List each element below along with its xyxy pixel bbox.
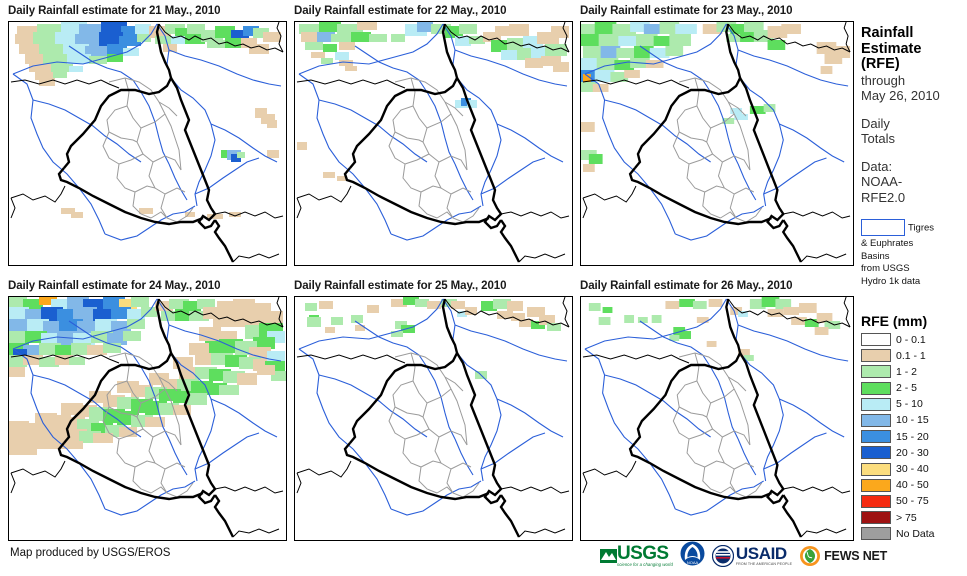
rfe-legend-row: 0.1 - 1 bbox=[861, 348, 967, 363]
rfe-legend-row: 40 - 50 bbox=[861, 478, 967, 493]
rfe-legend-swatch bbox=[861, 349, 891, 362]
rfe-legend-swatch bbox=[861, 527, 891, 540]
map-panel-4[interactable]: Daily Rainfall estimate for 24 May., 201… bbox=[6, 279, 220, 295]
data-source-line1: Data: bbox=[861, 159, 967, 175]
rfe-legend-row: 20 - 30 bbox=[861, 445, 967, 460]
rfe-legend-label: > 75 bbox=[896, 512, 917, 524]
panel-title-1: Daily Rainfall estimate for 21 May., 201… bbox=[6, 4, 220, 20]
legend-title-line1: Rainfall bbox=[861, 26, 967, 42]
rfe-legend-label: 20 - 30 bbox=[896, 447, 929, 459]
panel-title-6: Daily Rainfall estimate for 26 May., 201… bbox=[578, 279, 792, 295]
rfe-legend-row: > 75 bbox=[861, 510, 967, 525]
legend-totals: Daily Totals bbox=[861, 116, 967, 147]
rfe-legend-label: 50 - 75 bbox=[896, 495, 929, 507]
map-canvas-2[interactable] bbox=[294, 21, 573, 266]
rainfall-map-4 bbox=[9, 297, 286, 540]
panel-title-3: Daily Rainfall estimate for 23 May., 201… bbox=[578, 4, 792, 20]
noaa-logo[interactable]: NOAA bbox=[680, 541, 705, 571]
rfe-legend-swatch bbox=[861, 414, 891, 427]
legend-sidebar: Rainfall Estimate (RFE) through May 26, … bbox=[861, 0, 967, 545]
rfe-legend-label: 30 - 40 bbox=[896, 463, 929, 475]
rainfall-map-5 bbox=[295, 297, 572, 540]
rfe-legend-label: 15 - 20 bbox=[896, 431, 929, 443]
basin-swatch bbox=[861, 219, 905, 236]
map-panel-grid: Daily Rainfall estimate for 21 May., 201… bbox=[0, 0, 855, 545]
panel-title-5: Daily Rainfall estimate for 25 May., 201… bbox=[292, 279, 506, 295]
rfe-legend-swatch bbox=[861, 463, 891, 476]
rfe-legend-row: 30 - 40 bbox=[861, 462, 967, 477]
rfe-legend-swatch bbox=[861, 495, 891, 508]
basin-line5: Hydro 1k data bbox=[861, 276, 967, 288]
map-panel-1[interactable]: Daily Rainfall estimate for 21 May., 201… bbox=[6, 4, 220, 20]
rfe-legend-label: No Data bbox=[896, 528, 935, 540]
rfe-legend-swatch bbox=[861, 365, 891, 378]
rainfall-map-1 bbox=[9, 22, 286, 265]
rfe-legend-label: 2 - 5 bbox=[896, 382, 917, 394]
fews-net-wordmark: FEWS NET bbox=[824, 549, 887, 563]
map-canvas-5[interactable] bbox=[294, 296, 573, 541]
rfe-legend-label: 1 - 2 bbox=[896, 366, 917, 378]
svg-text:NOAA: NOAA bbox=[687, 560, 699, 565]
rfe-legend-swatch bbox=[861, 382, 891, 395]
noaa-seal-icon: NOAA bbox=[680, 541, 705, 566]
rfe-legend-row: 50 - 75 bbox=[861, 494, 967, 509]
legend-through: through bbox=[861, 73, 967, 89]
rfe-legend-row: 15 - 20 bbox=[861, 429, 967, 444]
rfe-legend-swatch bbox=[861, 511, 891, 524]
map-credit: Map produced by USGS/EROS bbox=[10, 547, 170, 559]
rainfall-map-6 bbox=[581, 297, 853, 540]
rfe-legend-swatch bbox=[861, 398, 891, 411]
rfe-legend-swatch bbox=[861, 333, 891, 346]
legend-title: Rainfall Estimate (RFE) through May 26, … bbox=[861, 26, 967, 104]
data-source-line2: NOAA- bbox=[861, 174, 967, 190]
rfe-legend-label: 0 - 0.1 bbox=[896, 334, 926, 346]
usgs-mark-icon bbox=[600, 548, 617, 565]
map-canvas-4[interactable] bbox=[8, 296, 287, 541]
map-canvas-6[interactable] bbox=[580, 296, 854, 541]
basin-legend: Tigres & Euphrates Basins from USGS Hydr… bbox=[861, 219, 967, 287]
rfe-legend-row: No Data bbox=[861, 526, 967, 541]
rfe-legend-swatch bbox=[861, 479, 891, 492]
basin-line3: Basins bbox=[861, 251, 967, 263]
legend-totals-line1: Daily bbox=[861, 116, 967, 132]
panel-title-2: Daily Rainfall estimate for 22 May., 201… bbox=[292, 4, 506, 20]
fews-globe-icon bbox=[799, 545, 821, 567]
panel-title-4: Daily Rainfall estimate for 24 May., 201… bbox=[6, 279, 220, 295]
basin-line2: & Euphrates bbox=[861, 238, 967, 250]
usgs-wordmark: USGS bbox=[617, 545, 673, 562]
usaid-seal-icon bbox=[712, 545, 734, 567]
map-panel-3[interactable]: Daily Rainfall estimate for 23 May., 201… bbox=[578, 4, 792, 20]
usaid-tagline: FROM THE AMERICAN PEOPLE bbox=[736, 562, 792, 566]
map-panel-5[interactable]: Daily Rainfall estimate for 25 May., 201… bbox=[292, 279, 506, 295]
agency-logos: USGS science for a changing world NOAA U… bbox=[600, 541, 887, 571]
rfe-legend-row: 1 - 2 bbox=[861, 364, 967, 379]
usaid-logo[interactable]: USAID FROM THE AMERICAN PEOPLE bbox=[712, 545, 792, 567]
usaid-wordmark: USAID bbox=[736, 546, 792, 562]
rfe-legend-label: 0.1 - 1 bbox=[896, 350, 926, 362]
legend-title-line3: (RFE) bbox=[861, 57, 967, 73]
basin-label: Tigres bbox=[908, 222, 934, 233]
legend-title-line2: Estimate bbox=[861, 42, 967, 58]
fews-net-logo[interactable]: FEWS NET bbox=[799, 545, 887, 567]
map-canvas-1[interactable] bbox=[8, 21, 287, 266]
usgs-logo[interactable]: USGS science for a changing world bbox=[600, 545, 673, 567]
legend-totals-line2: Totals bbox=[861, 131, 967, 147]
legend-end-date: May 26, 2010 bbox=[861, 88, 967, 104]
usgs-tagline: science for a changing world bbox=[617, 562, 673, 567]
rfe-legend-swatch bbox=[861, 446, 891, 459]
rainfall-map-3 bbox=[581, 22, 853, 265]
rfe-legend-heading: RFE (mm) bbox=[861, 313, 967, 329]
rfe-legend-row: 0 - 0.1 bbox=[861, 332, 967, 347]
rfe-legend-row: 10 - 15 bbox=[861, 413, 967, 428]
rfe-legend-label: 40 - 50 bbox=[896, 479, 929, 491]
rainfall-map-2 bbox=[295, 22, 572, 265]
rfe-legend-label: 5 - 10 bbox=[896, 398, 923, 410]
rfe-legend-list: 0 - 0.10.1 - 11 - 22 - 55 - 1010 - 1515 … bbox=[861, 332, 967, 541]
map-panel-6[interactable]: Daily Rainfall estimate for 26 May., 201… bbox=[578, 279, 792, 295]
rfe-legend-row: 5 - 10 bbox=[861, 397, 967, 412]
legend-data-source: Data: NOAA- RFE2.0 bbox=[861, 159, 967, 206]
rfe-legend-label: 10 - 15 bbox=[896, 414, 929, 426]
rfe-legend-row: 2 - 5 bbox=[861, 381, 967, 396]
basin-line4: from USGS bbox=[861, 263, 967, 275]
map-canvas-3[interactable] bbox=[580, 21, 854, 266]
data-source-line3: RFE2.0 bbox=[861, 190, 967, 206]
map-panel-2[interactable]: Daily Rainfall estimate for 22 May., 201… bbox=[292, 4, 506, 20]
rfe-legend-swatch bbox=[861, 430, 891, 443]
